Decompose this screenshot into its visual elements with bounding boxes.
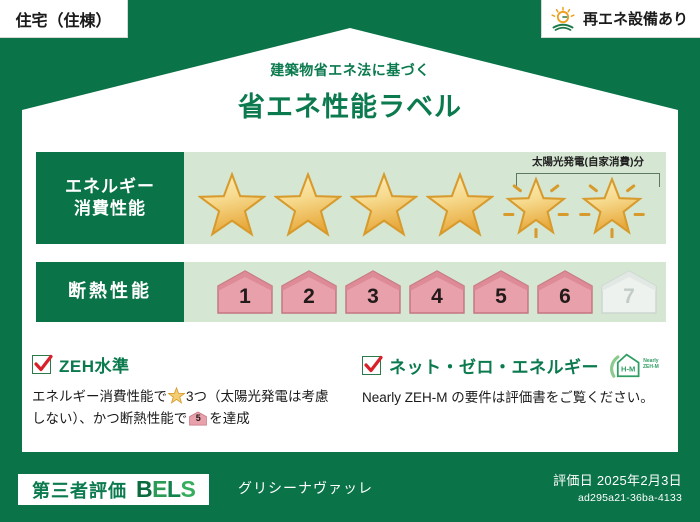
insulation-performance-row: 断熱性能 1 2 <box>36 262 666 322</box>
energy-performance-row: エネルギー 消費性能 太陽光発電(自家消費)分 <box>36 152 666 244</box>
grade-number: 7 <box>623 286 635 316</box>
renewable-badge-label: 再エネ設備あり <box>583 8 688 29</box>
star-icon <box>350 172 418 238</box>
evaluation-date: 評価日 2025年2月3日 <box>553 470 682 489</box>
insulation-grade-2: 2 <box>278 268 340 316</box>
star-solar-6 <box>574 169 650 241</box>
bels-letter-b: B <box>136 476 152 502</box>
star-sparkle-icon <box>502 172 570 238</box>
checkbox-checked-icon <box>32 355 51 374</box>
bels-letter-l: L <box>167 476 181 502</box>
net-zero-heading: ネット・ゼロ・エネルギー H-M Nearly ZEH-M <box>362 352 672 378</box>
star-solar-5 <box>498 169 574 241</box>
star-filled-1 <box>194 169 270 241</box>
check-icon <box>32 353 54 375</box>
insulation-grade-3: 3 <box>342 268 404 316</box>
bels-label-root: 住宅（住棟） 再エネ設備あり 建築物省エネ法に基づく 省エネ性能ラベル エネルギ… <box>0 0 700 522</box>
star-sparkle-icon <box>578 172 646 238</box>
energy-performance-body: 太陽光発電(自家消費)分 <box>184 152 666 244</box>
star-icon <box>426 172 494 238</box>
page-title: 建築物省エネ法に基づく 省エネ性能ラベル <box>0 60 700 124</box>
dwelling-type-label: 住宅（住棟） <box>15 7 111 31</box>
grade-number: 2 <box>303 286 315 316</box>
solar-share-caption: 太陽光発電(自家消費)分 <box>484 154 692 169</box>
net-zero-body: Nearly ZEH-M の要件は評価書をご覧ください。 <box>362 387 672 409</box>
insulation-performance-body: 1 2 3 <box>184 262 666 322</box>
zeh-body-part1: エネルギー消費性能で <box>32 389 167 404</box>
star-filled-3 <box>346 169 422 241</box>
bels-letter-e: E <box>152 476 167 502</box>
energy-label-line2: 消費性能 <box>74 198 146 220</box>
zeh-standard-heading: ZEH水準 <box>32 352 332 377</box>
energy-performance-label: エネルギー 消費性能 <box>36 152 184 244</box>
grade-number: 1 <box>239 286 251 316</box>
building-name: グリシーナヴァッレ <box>238 478 373 498</box>
inline-grade-number: 5 <box>188 411 208 426</box>
zeh-body-part3: を達成 <box>209 411 250 426</box>
insulation-grade-1: 1 <box>214 268 276 316</box>
zeh-logo-caption-line2: ZEH-M <box>643 364 659 370</box>
third-party-eval-label: 第三者評価 <box>32 477 127 503</box>
zeh-logo-inner-text: H-M <box>621 364 635 373</box>
solar-sun-icon <box>550 6 576 32</box>
grade-number: 4 <box>431 286 443 316</box>
grade-number: 6 <box>559 286 571 316</box>
title-main: 省エネ性能ラベル <box>0 85 700 124</box>
insulation-grade-6: 6 <box>534 268 596 316</box>
evaluation-id: ad295a21-36ba-4133 <box>553 492 682 504</box>
insulation-label-text: 断熱性能 <box>68 280 152 303</box>
zeh-standard-title: ZEH水準 <box>59 352 130 377</box>
star-rating <box>184 168 666 242</box>
star-filled-2 <box>270 169 346 241</box>
star-icon <box>168 387 185 404</box>
insulation-grade-scale: 1 2 3 <box>184 262 666 322</box>
zeh-standard-body: エネルギー消費性能で3つ（太陽光発電は考慮しない）、かつ断熱性能で5を達成 <box>32 386 332 430</box>
zeh-logo-caption: Nearly ZEH-M <box>643 359 659 371</box>
dwelling-type-tag: 住宅（住棟） <box>0 0 128 38</box>
statement-net-zero-energy: ネット・ゼロ・エネルギー H-M Nearly ZEH-M Nearly ZEH… <box>362 352 672 409</box>
insulation-grade-7: 7 <box>598 268 660 316</box>
evaluation-meta: 評価日 2025年2月3日 ad295a21-36ba-4133 <box>553 470 682 504</box>
checkbox-checked-icon <box>362 356 381 375</box>
star-icon <box>274 172 342 238</box>
renewable-equipment-badge: 再エネ設備あり <box>541 0 700 38</box>
bels-letter-s: S <box>181 476 196 502</box>
grade-number: 5 <box>495 286 507 316</box>
title-subtitle: 建築物省エネ法に基づく <box>0 60 700 80</box>
zeh-house-logo-icon: H-M <box>609 352 641 378</box>
insulation-grade-4: 4 <box>406 268 468 316</box>
star-filled-4 <box>422 169 498 241</box>
insulation-performance-label: 断熱性能 <box>36 262 184 322</box>
zeh-m-logo: H-M Nearly ZEH-M <box>609 352 659 378</box>
check-icon <box>362 354 384 376</box>
house-grade-icon: 5 <box>188 411 208 426</box>
bels-certification-plate: 第三者評価 BELS <box>18 474 209 505</box>
statement-zeh-standard: ZEH水準 エネルギー消費性能で3つ（太陽光発電は考慮しない）、かつ断熱性能で5… <box>32 352 332 430</box>
energy-label-line1: エネルギー <box>65 176 155 198</box>
net-zero-title: ネット・ゼロ・エネルギー <box>389 353 599 378</box>
grade-number: 3 <box>367 286 379 316</box>
star-icon <box>198 172 266 238</box>
insulation-grade-5: 5 <box>470 268 532 316</box>
bels-logo: BELS <box>136 476 195 503</box>
